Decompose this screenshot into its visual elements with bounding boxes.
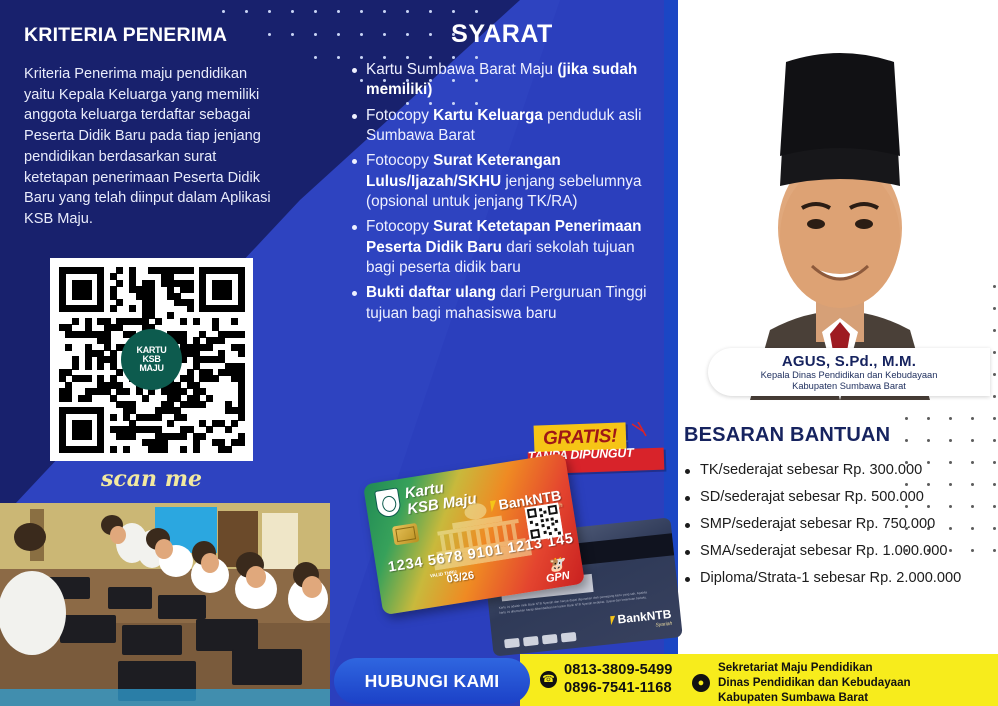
besaran-bantuan-list: TK/sederajat sebesar Rp. 300.000SD/seder… xyxy=(678,462,998,597)
qr-module xyxy=(212,420,219,427)
qr-module xyxy=(65,324,72,331)
qr-module xyxy=(85,420,92,427)
qr-module xyxy=(148,426,155,433)
qr-module xyxy=(123,433,130,440)
qr-module xyxy=(225,369,232,376)
qr-module xyxy=(238,350,245,357)
qr-module xyxy=(231,407,238,414)
card-back-bank-logo: BankNTB Syariah xyxy=(610,607,673,633)
qr-module xyxy=(218,350,225,357)
qr-module xyxy=(225,446,232,453)
qr-module xyxy=(199,388,206,395)
syarat-list: Kartu Sumbawa Barat Maju (jika sudah mem… xyxy=(350,60,660,329)
address-block: ● Sekretariat Maju Pendidikan Dinas Pend… xyxy=(692,660,911,705)
qr-module xyxy=(97,299,104,306)
qr-module xyxy=(72,267,79,274)
qr-module xyxy=(238,331,245,338)
qr-module xyxy=(110,426,117,433)
qr-module xyxy=(78,407,85,414)
qr-module xyxy=(59,426,66,433)
qr-module xyxy=(174,433,181,440)
qr-module xyxy=(199,375,206,382)
official-portrait-photo xyxy=(690,0,990,400)
qr-module xyxy=(167,395,174,402)
qr-module xyxy=(174,280,181,287)
qr-module xyxy=(72,318,79,325)
qr-module xyxy=(142,293,149,300)
qr-module xyxy=(238,293,245,300)
qr-module xyxy=(238,375,245,382)
qr-module xyxy=(97,293,104,300)
classroom-photo-art xyxy=(0,503,330,706)
qr-module xyxy=(155,414,162,421)
qr-module xyxy=(104,318,111,325)
qr-code[interactable]: KARTU KSB MAJU xyxy=(50,258,253,461)
qr-module xyxy=(142,318,149,325)
qr-module xyxy=(72,426,79,433)
qr-module xyxy=(161,439,168,446)
official-role-line1: Kepala Dinas Pendidikan dan Kebudayaan xyxy=(761,370,938,381)
qr-module xyxy=(78,375,85,382)
qr-module xyxy=(174,407,181,414)
qr-module xyxy=(180,318,187,325)
scan-me-label: scan me xyxy=(50,466,253,492)
hubungi-kami-button[interactable]: HUBUNGI KAMI xyxy=(334,658,530,704)
network-icon-4 xyxy=(561,632,577,643)
qr-module xyxy=(212,375,219,382)
regency-emblem-icon xyxy=(374,487,402,518)
qr-module xyxy=(225,293,232,300)
qr-module xyxy=(218,356,225,363)
qr-module xyxy=(65,388,72,395)
qr-module xyxy=(238,363,245,370)
syarat-item: Fotocopy Surat Ketetapan Penerimaan Pese… xyxy=(350,217,660,278)
qr-module xyxy=(187,344,194,351)
qr-module xyxy=(155,426,162,433)
qr-module xyxy=(72,293,79,300)
qr-module xyxy=(180,414,187,421)
qr-module xyxy=(238,401,245,408)
qr-module xyxy=(65,331,72,338)
qr-module xyxy=(85,318,92,325)
qr-module xyxy=(59,273,66,280)
qr-module xyxy=(199,299,206,306)
qr-module xyxy=(174,267,181,274)
qr-module xyxy=(167,420,174,427)
kriteria-title: KRITERIA PENERIMA xyxy=(24,24,284,47)
phone-numbers: 0813-3809-5499 0896-7541-1168 xyxy=(564,662,673,698)
qr-module xyxy=(129,267,136,274)
qr-module xyxy=(231,305,238,312)
qr-module xyxy=(218,446,225,453)
qr-module xyxy=(187,299,194,306)
qr-module xyxy=(97,363,104,370)
qr-module xyxy=(59,414,66,421)
qr-module xyxy=(174,388,181,395)
qr-module xyxy=(110,286,117,293)
qr-module xyxy=(148,414,155,421)
qr-module xyxy=(199,356,206,363)
syarat-text-bold: Kartu Keluarga xyxy=(433,107,547,124)
qr-module xyxy=(91,305,98,312)
qr-module xyxy=(65,344,72,351)
besaran-item: SMA/sederajat sebesar Rp. 1.000.000 xyxy=(678,543,998,559)
qr-module xyxy=(59,439,66,446)
qr-module xyxy=(238,395,245,402)
besaran-item: TK/sederajat sebesar Rp. 300.000 xyxy=(678,462,998,478)
qr-module xyxy=(85,388,92,395)
qr-module xyxy=(231,375,238,382)
qr-module xyxy=(97,446,104,453)
qr-module xyxy=(97,305,104,312)
qr-center-logo: KARTU KSB MAJU xyxy=(121,329,182,390)
qr-module xyxy=(238,286,245,293)
address-line-3: Kabupaten Sumbawa Barat xyxy=(718,690,911,705)
qr-module xyxy=(193,363,200,370)
qr-module xyxy=(85,305,92,312)
official-role: Kepala Dinas Pendidikan dan Kebudayaan K… xyxy=(761,370,938,392)
qr-module xyxy=(225,305,232,312)
qr-module xyxy=(218,305,225,312)
qr-module xyxy=(59,286,66,293)
qr-module xyxy=(161,388,168,395)
qr-module xyxy=(91,388,98,395)
qr-module xyxy=(155,439,162,446)
qr-module xyxy=(85,356,92,363)
qr-module xyxy=(193,401,200,408)
qr-module xyxy=(123,388,130,395)
qr-module xyxy=(161,407,168,414)
qr-module xyxy=(161,433,168,440)
address-line-2: Dinas Pendidikan dan Kebudayaan xyxy=(718,675,911,690)
gpn-label: GPN xyxy=(545,570,570,586)
qr-module xyxy=(110,305,117,312)
qr-module xyxy=(85,293,92,300)
qr-module xyxy=(59,420,66,427)
qr-module xyxy=(193,344,200,351)
qr-module xyxy=(65,382,72,389)
official-role-line2: Kabupaten Sumbawa Barat xyxy=(761,381,938,392)
qr-module xyxy=(174,395,181,402)
qr-module xyxy=(174,293,181,300)
qr-module xyxy=(110,363,117,370)
qr-module xyxy=(206,337,213,344)
qr-module xyxy=(104,388,111,395)
qr-module xyxy=(78,433,85,440)
qr-module xyxy=(78,446,85,453)
qr-module xyxy=(187,426,194,433)
qr-module xyxy=(187,267,194,274)
qr-module xyxy=(212,280,219,287)
qr-module xyxy=(85,426,92,433)
qr-module xyxy=(187,280,194,287)
qr-module xyxy=(78,426,85,433)
qr-module xyxy=(174,331,181,338)
qr-module xyxy=(174,299,181,306)
qr-module xyxy=(78,305,85,312)
syarat-text: Fotocopy xyxy=(366,218,433,235)
qr-module xyxy=(218,293,225,300)
qr-module xyxy=(142,439,149,446)
qr-module xyxy=(148,439,155,446)
qr-module xyxy=(97,426,104,433)
qr-module xyxy=(193,433,200,440)
syarat-text-bold: Bukti daftar ulang xyxy=(366,284,500,301)
qr-module xyxy=(116,401,123,408)
qr-module xyxy=(155,433,162,440)
qr-module xyxy=(218,439,225,446)
qr-module xyxy=(97,280,104,287)
syarat-item: Fotocopy Surat Keterangan Lulus/Ijazah/S… xyxy=(350,151,660,212)
qr-module xyxy=(65,407,72,414)
qr-module xyxy=(199,293,206,300)
qr-module xyxy=(136,426,143,433)
qr-module xyxy=(116,299,123,306)
qr-module xyxy=(180,286,187,293)
qr-module xyxy=(238,273,245,280)
qr-module xyxy=(174,414,181,421)
network-icon-2 xyxy=(523,636,539,647)
qr-module xyxy=(238,382,245,389)
qr-module xyxy=(187,369,194,376)
qr-module xyxy=(199,369,206,376)
qr-module xyxy=(148,305,155,312)
qr-module xyxy=(129,318,136,325)
qr-module xyxy=(85,407,92,414)
qr-module xyxy=(110,324,117,331)
phone-number-1: 0813-3809-5499 xyxy=(564,662,673,680)
qr-module xyxy=(167,267,174,274)
qr-module xyxy=(129,286,136,293)
qr-module xyxy=(72,433,79,440)
qr-module xyxy=(193,318,200,325)
qr-module xyxy=(206,369,213,376)
network-icon-1 xyxy=(504,638,520,649)
qr-module xyxy=(212,439,219,446)
qr-module xyxy=(180,375,187,382)
qr-module xyxy=(238,369,245,376)
qr-module xyxy=(97,267,104,274)
qr-module xyxy=(225,286,232,293)
qr-module xyxy=(59,446,66,453)
qr-module xyxy=(85,331,92,338)
qr-module xyxy=(218,369,225,376)
qr-module xyxy=(72,331,79,338)
qr-module xyxy=(116,426,123,433)
qr-module xyxy=(91,350,98,357)
qr-module xyxy=(129,273,136,280)
qr-module xyxy=(193,439,200,446)
qr-module xyxy=(231,439,238,446)
card-back-network-icons xyxy=(504,632,577,648)
qr-module xyxy=(193,382,200,389)
qr-module xyxy=(72,446,79,453)
qr-module xyxy=(85,363,92,370)
qr-module xyxy=(97,414,104,421)
qr-module xyxy=(238,407,245,414)
qr-module xyxy=(97,420,104,427)
qr-module xyxy=(206,375,213,382)
qr-module xyxy=(167,293,174,300)
qr-module xyxy=(116,382,123,389)
syarat-text: Kartu Sumbawa Barat Maju xyxy=(366,61,557,78)
qr-module xyxy=(91,407,98,414)
qr-module xyxy=(72,363,79,370)
qr-module xyxy=(59,293,66,300)
qr-module xyxy=(155,318,162,325)
qr-module xyxy=(59,388,66,395)
qr-module xyxy=(59,324,66,331)
qr-module xyxy=(129,280,136,287)
qr-module xyxy=(238,267,245,274)
qr-module xyxy=(72,420,79,427)
qr-module xyxy=(225,267,232,274)
qr-module xyxy=(148,267,155,274)
qr-module xyxy=(97,382,104,389)
qr-module xyxy=(187,382,194,389)
poster-canvas: KRITERIA PENERIMA Kriteria Penerima maju… xyxy=(0,0,998,706)
qr-module xyxy=(180,433,187,440)
qr-module xyxy=(142,395,149,402)
qr-module xyxy=(161,267,168,274)
qr-module xyxy=(212,356,219,363)
qr-module xyxy=(212,286,219,293)
qr-module xyxy=(187,395,194,402)
qr-module xyxy=(167,401,174,408)
qr-module xyxy=(238,305,245,312)
qr-module xyxy=(129,433,136,440)
qr-module xyxy=(91,267,98,274)
qr-module xyxy=(206,356,213,363)
qr-module xyxy=(59,433,66,440)
qr-module xyxy=(161,273,168,280)
qr-module xyxy=(97,337,104,344)
qr-module xyxy=(110,293,117,300)
qr-module xyxy=(167,407,174,414)
qr-module xyxy=(65,369,72,376)
besaran-item: SMP/sederajat sebesar Rp. 750.000 xyxy=(678,516,998,532)
syarat-item: Fotocopy Kartu Keluarga penduduk asli Su… xyxy=(350,106,660,147)
syarat-text: Fotocopy xyxy=(366,152,433,169)
qr-module xyxy=(59,267,66,274)
qr-module xyxy=(180,280,187,287)
qr-module xyxy=(116,388,123,395)
qr-module xyxy=(206,267,213,274)
qr-module xyxy=(59,375,66,382)
qr-module xyxy=(225,280,232,287)
qr-module xyxy=(110,382,117,389)
qr-module xyxy=(72,305,79,312)
qr-module xyxy=(136,414,143,421)
qr-module xyxy=(199,420,206,427)
qr-module xyxy=(85,344,92,351)
qr-module xyxy=(187,375,194,382)
qr-module xyxy=(97,388,104,395)
qr-module xyxy=(116,280,123,287)
qr-module xyxy=(238,433,245,440)
qr-module xyxy=(110,395,117,402)
qr-module xyxy=(225,407,232,414)
qr-module xyxy=(78,280,85,287)
qr-module xyxy=(199,401,206,408)
qr-module xyxy=(110,273,117,280)
qr-module xyxy=(148,312,155,319)
qr-module xyxy=(167,280,174,287)
qr-module xyxy=(180,331,187,338)
qr-module xyxy=(97,331,104,338)
qr-module xyxy=(97,375,104,382)
qr-module xyxy=(187,286,194,293)
qr-module xyxy=(72,356,79,363)
qr-module xyxy=(238,344,245,351)
address-line-1: Sekretariat Maju Pendidikan xyxy=(718,660,911,675)
qr-module xyxy=(199,433,206,440)
qr-module xyxy=(110,356,117,363)
qr-module xyxy=(218,337,225,344)
qr-module xyxy=(206,395,213,402)
qr-module xyxy=(231,344,238,351)
syarat-text: Fotocopy xyxy=(366,107,433,124)
qr-module xyxy=(97,356,104,363)
qr-module xyxy=(136,388,143,395)
qr-module xyxy=(85,267,92,274)
qr-module xyxy=(167,312,174,319)
qr-module xyxy=(59,395,66,402)
qr-module xyxy=(97,407,104,414)
phone-icon: ☎ xyxy=(540,671,557,688)
qr-module xyxy=(193,395,200,402)
qr-module xyxy=(129,420,136,427)
qr-module xyxy=(148,299,155,306)
qr-module xyxy=(136,318,143,325)
qr-module xyxy=(180,337,187,344)
qr-module xyxy=(110,414,117,421)
qr-module xyxy=(193,350,200,357)
qr-module xyxy=(142,299,149,306)
qr-module xyxy=(104,356,111,363)
qr-module xyxy=(97,439,104,446)
qr-module xyxy=(148,446,155,453)
qr-module xyxy=(199,280,206,287)
qr-module xyxy=(167,433,174,440)
qr-module xyxy=(59,280,66,287)
qr-module xyxy=(231,420,238,427)
qr-module xyxy=(123,446,130,453)
qr-module xyxy=(129,426,136,433)
card-chip-icon xyxy=(392,523,420,546)
qr-module xyxy=(193,356,200,363)
qr-module xyxy=(218,420,225,427)
qr-module xyxy=(231,318,238,325)
qr-module xyxy=(85,324,92,331)
qr-module xyxy=(199,273,206,280)
phone-contact-block[interactable]: ☎ 0813-3809-5499 0896-7541-1168 xyxy=(540,662,673,698)
qr-module xyxy=(231,267,238,274)
qr-module xyxy=(78,331,85,338)
location-pin-icon: ● xyxy=(692,674,710,692)
qr-module xyxy=(218,331,225,338)
qr-module xyxy=(72,375,79,382)
qr-module xyxy=(136,293,143,300)
qr-module xyxy=(225,331,232,338)
qr-module xyxy=(142,414,149,421)
qr-module xyxy=(238,439,245,446)
qr-module xyxy=(155,446,162,453)
qr-module xyxy=(155,267,162,274)
qr-module xyxy=(180,401,187,408)
besaran-item: SD/sederajat sebesar Rp. 500.000 xyxy=(678,489,998,505)
qr-module xyxy=(142,312,149,319)
